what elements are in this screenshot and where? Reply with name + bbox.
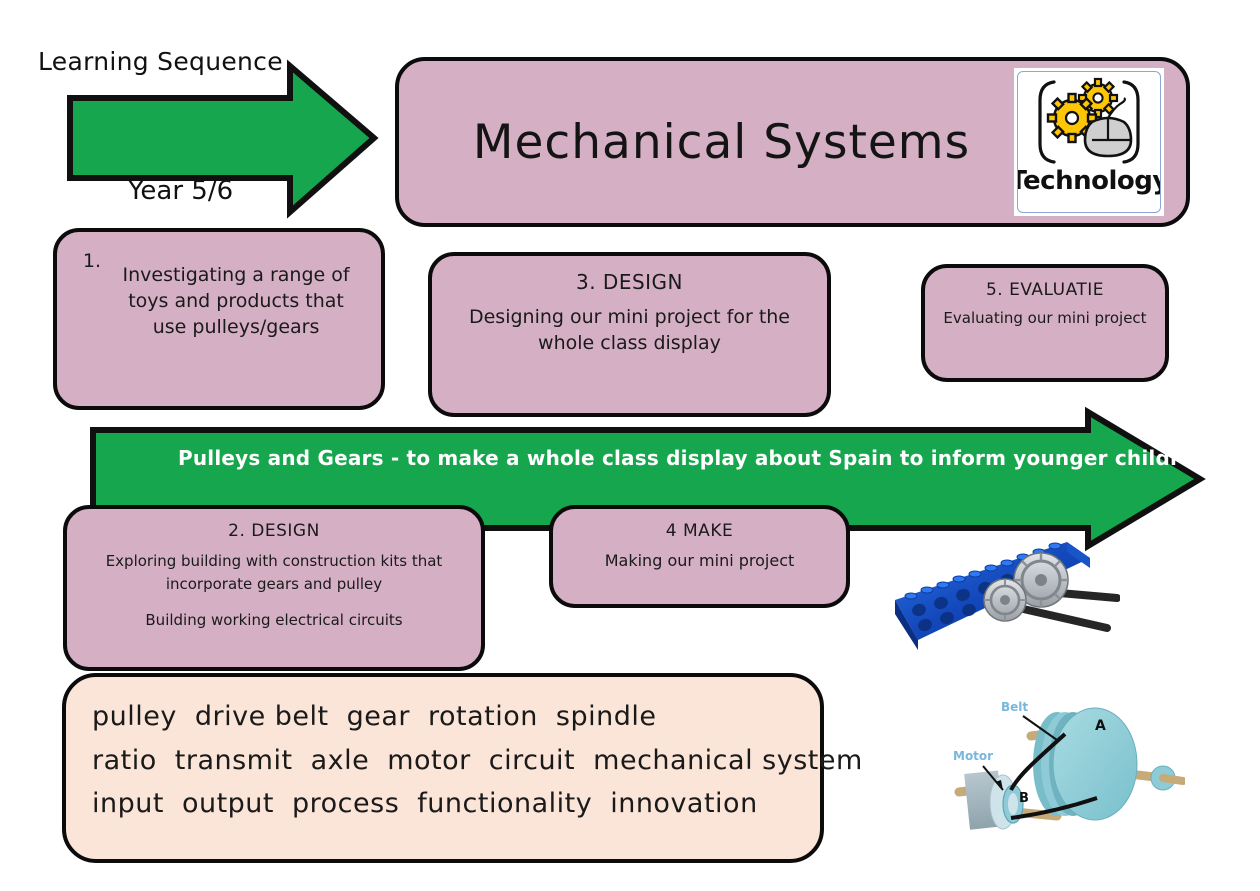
vocabulary-word: drive belt <box>195 701 329 732</box>
vocabulary-word: motor <box>387 745 471 776</box>
vocabulary-word: functionality <box>417 788 592 819</box>
step-card-3: 3. DESIGN Designing our mini project for… <box>428 252 831 417</box>
year-group-label: Year 5/6 <box>128 176 233 206</box>
step-card-1: 1. Investigating a range of toys and pro… <box>53 228 385 410</box>
vocabulary-word: process <box>292 788 399 819</box>
vocabulary-line-2: ratiotransmitaxlemotorcircuitmechanical … <box>92 739 794 783</box>
step-5-body: Evaluating our mini project <box>939 308 1151 330</box>
vocabulary-word: axle <box>311 745 370 776</box>
pulley-diagram-b-label: B <box>1019 791 1029 806</box>
lego-technic-gears-photo <box>885 528 1120 663</box>
vocabulary-word: mechanical system <box>593 745 863 776</box>
step-2-body-line-2: Building working electrical circuits <box>93 609 455 632</box>
vocabulary-word: input <box>92 788 164 819</box>
technology-icon-label: Technology <box>1017 168 1161 194</box>
vocabulary-word: output <box>182 788 274 819</box>
lego-technic-gears-illustration <box>885 528 1120 663</box>
vocabulary-word: pulley <box>92 701 177 732</box>
vocabulary-card: pulleydrive beltgearrotationspindle rati… <box>62 673 824 863</box>
step-3-heading: 3. DESIGN <box>454 270 805 294</box>
step-1-body: Investigating a range of toys and produc… <box>117 262 355 341</box>
step-card-2: 2. DESIGN Exploring building with constr… <box>63 505 485 671</box>
step-4-heading: 4 MAKE <box>571 521 828 541</box>
step-3-body: Designing our mini project for the whole… <box>454 304 805 356</box>
technology-icon-frame: Technology <box>1017 71 1161 213</box>
vocabulary-line-3: inputoutputprocessfunctionalityinnovatio… <box>92 782 794 826</box>
gears-and-mouse-icon <box>1024 74 1154 170</box>
vocabulary-word: spindle <box>556 701 657 732</box>
vocabulary-word: circuit <box>489 745 575 776</box>
motor-belt-pulley-illustration: Belt Motor A B <box>945 678 1185 853</box>
pulley-diagram-motor-label: Motor <box>953 749 993 763</box>
motor-belt-pulley-diagram: Belt Motor A B <box>945 678 1185 853</box>
project-banner-text: Pulleys and Gears - to make a whole clas… <box>178 446 1208 470</box>
step-2-body-line-1: Exploring building with construction kit… <box>93 550 455 595</box>
pulley-diagram-a-label: A <box>1095 718 1106 734</box>
vocabulary-word: gear <box>347 701 410 732</box>
technology-subject-icon: Technology <box>1014 68 1164 216</box>
learning-sequence-label: Learning Sequence <box>38 47 283 76</box>
vocabulary-word: transmit <box>175 745 293 776</box>
step-4-body: Making our mini project <box>571 550 828 572</box>
vocabulary-word: ratio <box>92 745 157 776</box>
vocabulary-word: rotation <box>428 701 538 732</box>
poster-title-card: Mechanical Systems <box>395 57 1190 227</box>
poster-canvas: Learning Sequence Year 5/6 Mechanical Sy… <box>0 0 1260 891</box>
step-card-4: 4 MAKE Making our mini project <box>549 505 850 608</box>
pulley-diagram-belt-label: Belt <box>1001 700 1028 714</box>
vocabulary-word: innovation <box>610 788 758 819</box>
page-title: Mechanical Systems <box>399 115 1014 170</box>
step-5-heading: 5. EVALUATIE <box>939 280 1151 300</box>
step-2-heading: 2. DESIGN <box>93 521 455 541</box>
vocabulary-line-1: pulleydrive beltgearrotationspindle <box>92 695 794 739</box>
step-1-number: 1. <box>83 248 101 341</box>
step-card-5: 5. EVALUATIE Evaluating our mini project <box>921 264 1169 382</box>
